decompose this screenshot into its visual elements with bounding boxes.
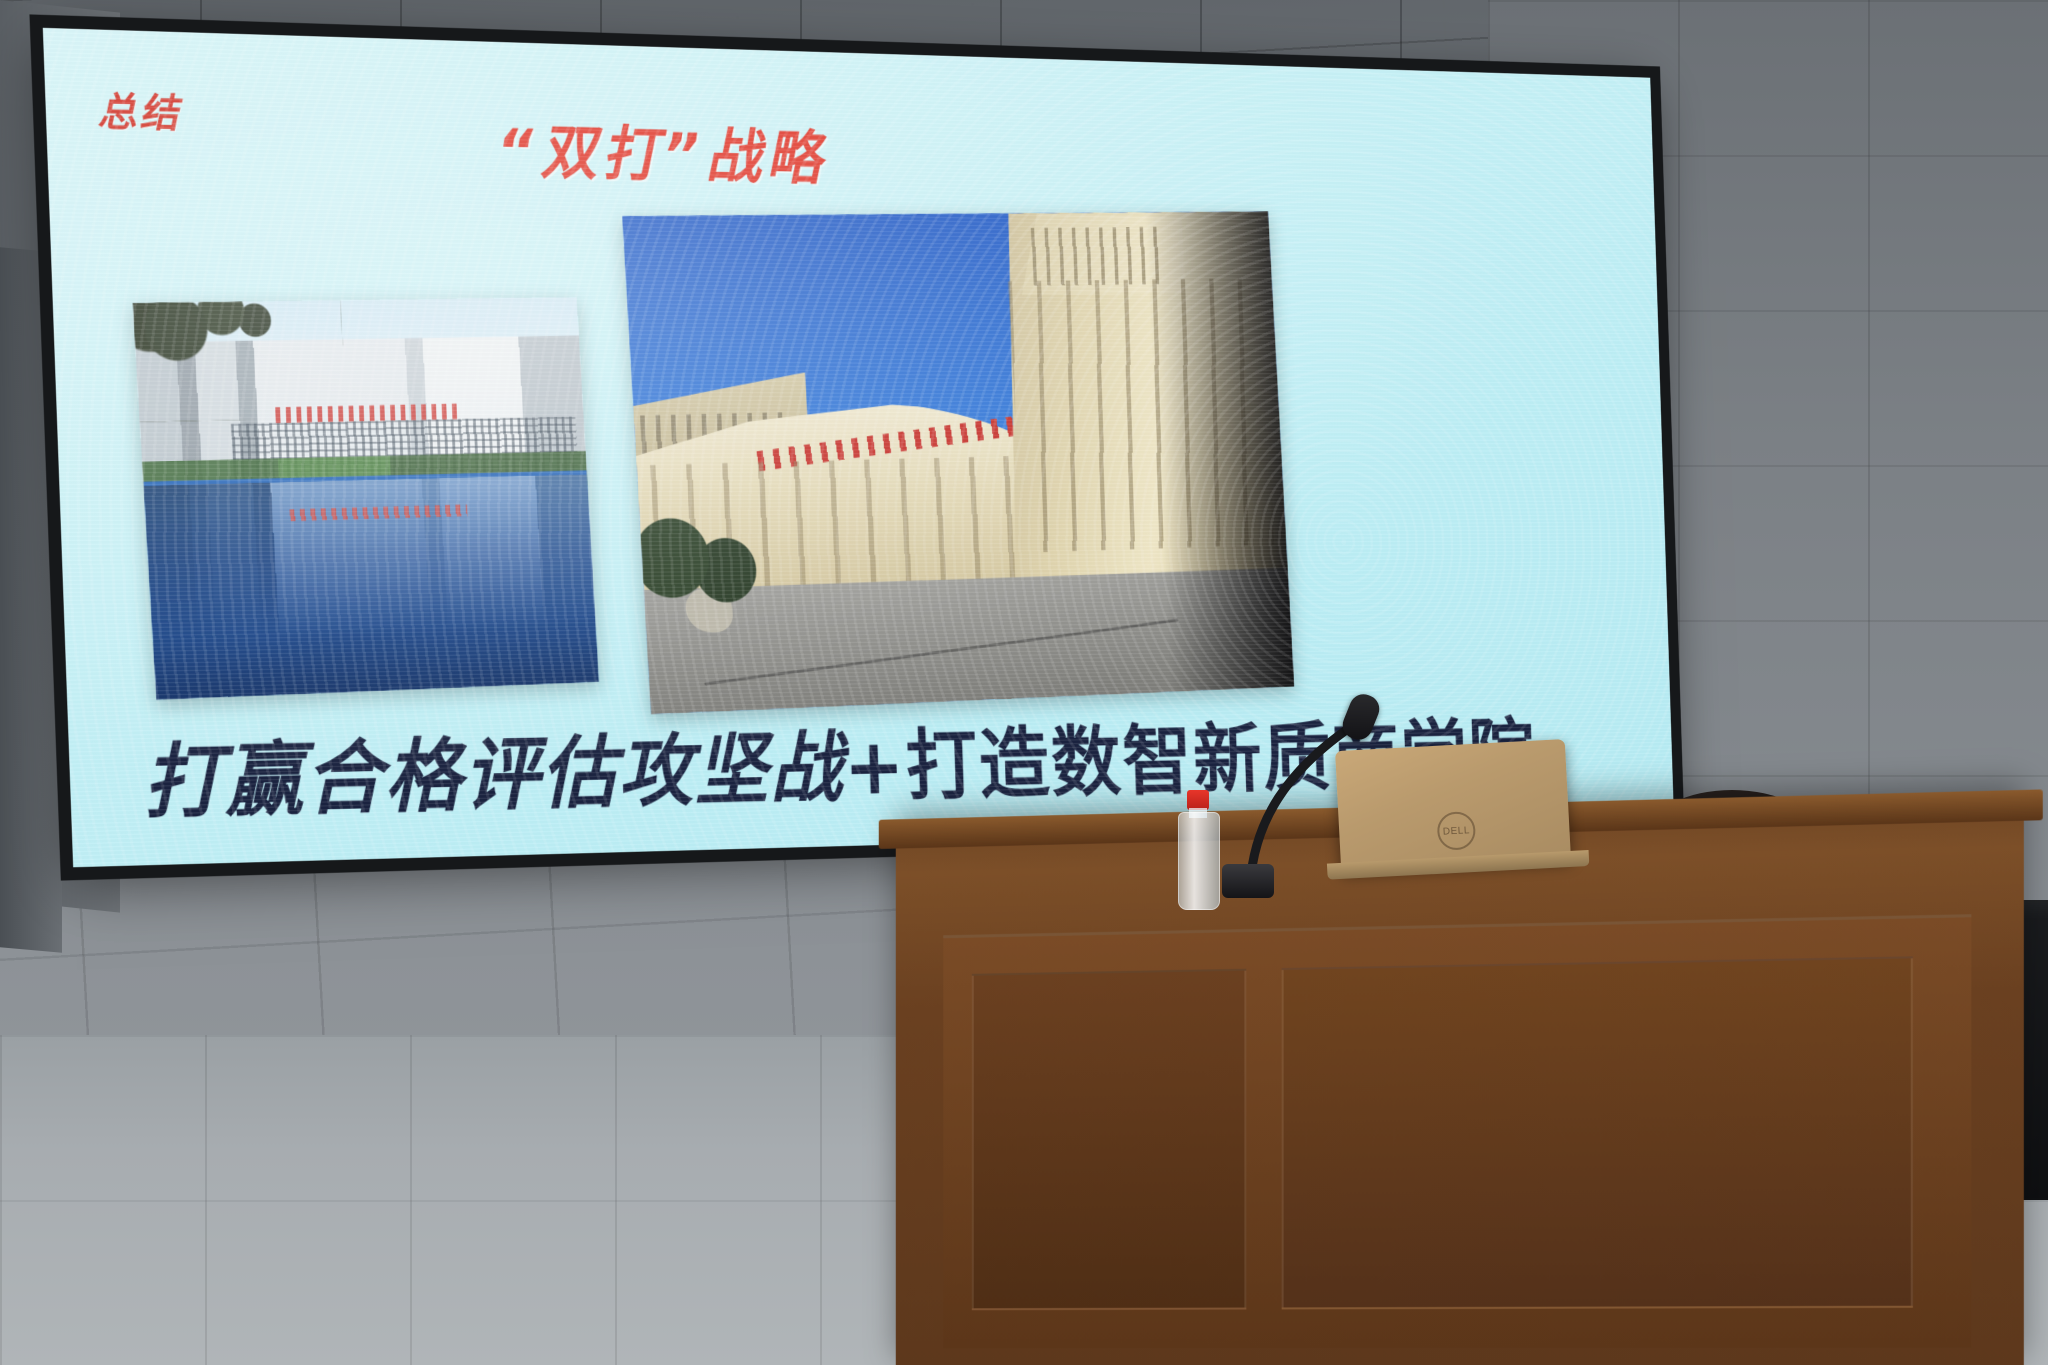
laptop-lid: DELL (1335, 739, 1571, 871)
slide-title: “双打”战略 (495, 102, 827, 196)
microphone-base (1222, 864, 1274, 898)
slide-kicker-label: 总结 (96, 79, 182, 139)
podium-panel-right (1282, 956, 1913, 1309)
bottle-body (1178, 812, 1220, 910)
dell-logo: DELL (1436, 811, 1476, 851)
bottle-cap (1187, 790, 1209, 810)
podium-panel-left (972, 969, 1246, 1311)
wooden-podium (896, 790, 2024, 1365)
conference-hall-scene: 总结 “双打”战略 (0, 0, 2048, 1365)
led-presentation-screen[interactable]: 总结 “双打”战略 (43, 28, 1674, 867)
caption-part-one: 打赢合格评估攻坚战 (141, 723, 845, 830)
left-side-trim (0, 247, 62, 952)
dell-laptop[interactable]: DELL (1335, 739, 1571, 871)
water-bottle[interactable] (1178, 790, 1218, 908)
campus-lake-photo (132, 297, 599, 700)
campus-colonnade-photo (622, 211, 1294, 714)
slide-canvas: 总结 “双打”战略 (43, 28, 1674, 867)
caption-plus-sign: + (842, 722, 907, 813)
tree-foliage (132, 300, 347, 422)
